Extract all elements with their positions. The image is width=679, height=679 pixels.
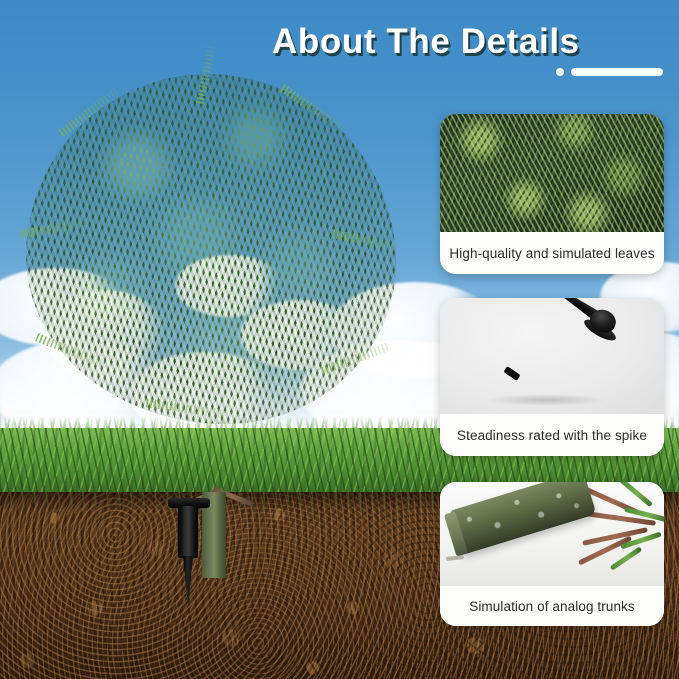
spike-drop-shadow — [486, 394, 606, 406]
bar-icon — [571, 68, 663, 76]
trunk-photo — [440, 482, 664, 586]
artificial-tree — [26, 74, 396, 444]
spike-barb — [503, 366, 520, 381]
spike-body — [178, 506, 198, 558]
title-divider — [556, 68, 663, 76]
detail-card-trunk[interactable]: Simulation of analog trunks — [440, 482, 664, 626]
trunk-pin — [446, 555, 464, 561]
trunk-leaf — [610, 546, 643, 570]
trunk-log — [449, 482, 596, 555]
infographic-canvas: About The Details High-quality and simul… — [0, 0, 679, 679]
card-caption: Steadiness rated with the spike — [440, 414, 664, 456]
card-caption: Simulation of analog trunks — [440, 586, 664, 626]
detail-card-leaves[interactable]: High-quality and simulated leaves — [440, 114, 664, 274]
card-caption: High-quality and simulated leaves — [440, 232, 664, 274]
dot-icon — [556, 68, 564, 76]
leaves-photo-art — [440, 114, 664, 232]
trunk-photo-art — [440, 482, 664, 586]
spike-photo — [440, 298, 664, 414]
page-title: About The Details — [272, 24, 580, 59]
spike-photo-art — [440, 298, 664, 414]
detail-card-spike[interactable]: Steadiness rated with the spike — [440, 298, 664, 456]
leaves-photo — [440, 114, 664, 232]
